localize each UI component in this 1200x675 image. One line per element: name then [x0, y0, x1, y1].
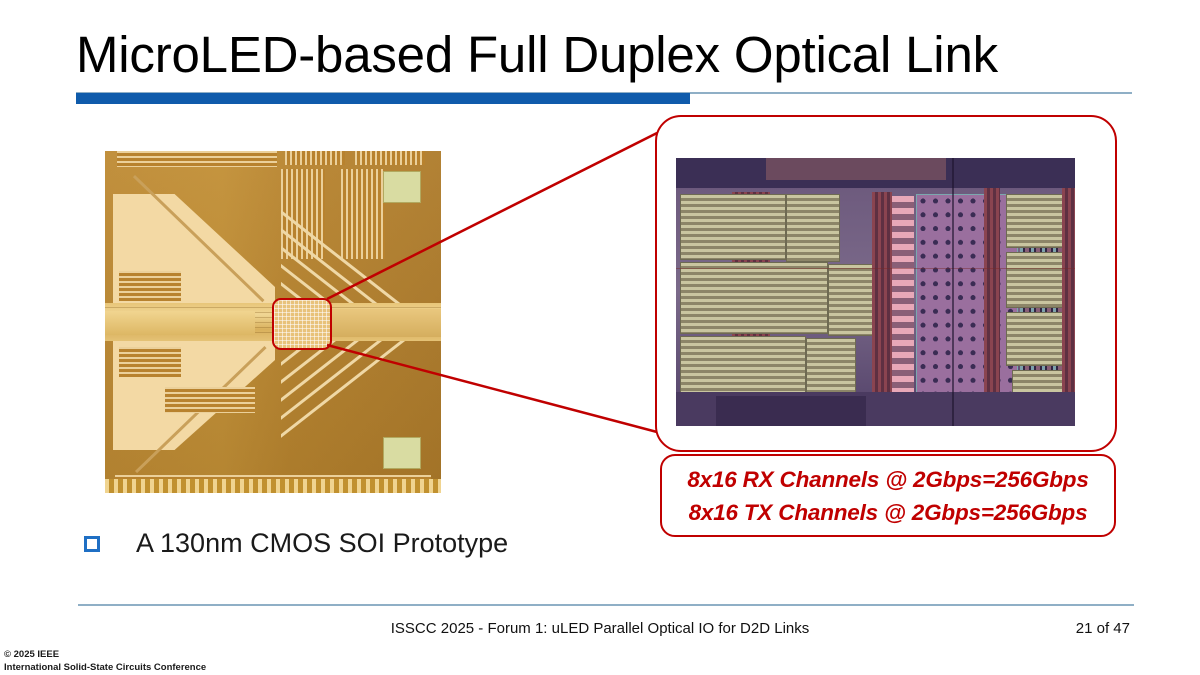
die-bond-pad	[383, 171, 421, 203]
footer-session-text: ISSCC 2025 - Forum 1: uLED Parallel Opti…	[0, 620, 1200, 637]
copyright-line-2: International Solid-State Circuits Confe…	[4, 662, 206, 675]
die-stripe-block	[119, 347, 181, 377]
die-stripe-block	[119, 271, 181, 301]
inset-maroon-band	[984, 188, 1000, 418]
die-zoom-highlight-box	[272, 298, 332, 350]
inset-microled-pad-array	[916, 194, 1018, 418]
inset-bottom-band-2	[716, 396, 866, 426]
callout-line-tx: 8x16 TX Channels @ 2Gbps=256Gbps	[689, 496, 1088, 529]
copyright-block: © 2025 IEEE International Solid-State Ci…	[4, 649, 206, 674]
callout-line-rx: 8x16 RX Channels @ 2Gbps=256Gbps	[687, 463, 1088, 496]
inset-khaki-block	[680, 262, 828, 334]
inset-khaki-block	[828, 264, 874, 336]
slide-canvas: MicroLED-based Full Duplex Optical Link	[0, 0, 1200, 675]
inset-top-band-2	[766, 158, 946, 180]
die-left-bus	[105, 311, 255, 335]
zoomed-die-micrograph	[676, 158, 1075, 426]
inset-khaki-block	[680, 194, 786, 260]
inset-maroon-band	[1062, 188, 1075, 418]
page-title: MicroLED-based Full Duplex Optical Link	[76, 22, 1136, 88]
inset-maroon-band	[872, 192, 892, 414]
copyright-line-1: © 2025 IEEE	[4, 649, 206, 662]
throughput-callout: 8x16 RX Channels @ 2Gbps=256Gbps 8x16 TX…	[660, 454, 1116, 537]
title-rule-thick	[76, 93, 690, 104]
bullet-text: A 130nm CMOS SOI Prototype	[136, 528, 508, 559]
inset-khaki-block	[786, 194, 840, 262]
bullet-item-prototype: A 130nm CMOS SOI Prototype	[84, 528, 508, 559]
footer-rule	[78, 604, 1134, 606]
hollow-square-bullet-icon	[84, 536, 100, 552]
die-stripe-block	[117, 151, 277, 167]
die-bottom-pads	[105, 479, 441, 493]
footer-page-number: 21 of 47	[1076, 620, 1130, 637]
inset-hairline	[676, 268, 1075, 269]
die-bond-pad	[383, 437, 421, 469]
inset-vertical-split	[952, 158, 954, 426]
die-routing-traces-bottom	[281, 341, 441, 493]
die-stripe-block	[165, 387, 255, 413]
chip-die-micrograph	[105, 151, 441, 493]
inset-driver-comb	[892, 196, 914, 412]
